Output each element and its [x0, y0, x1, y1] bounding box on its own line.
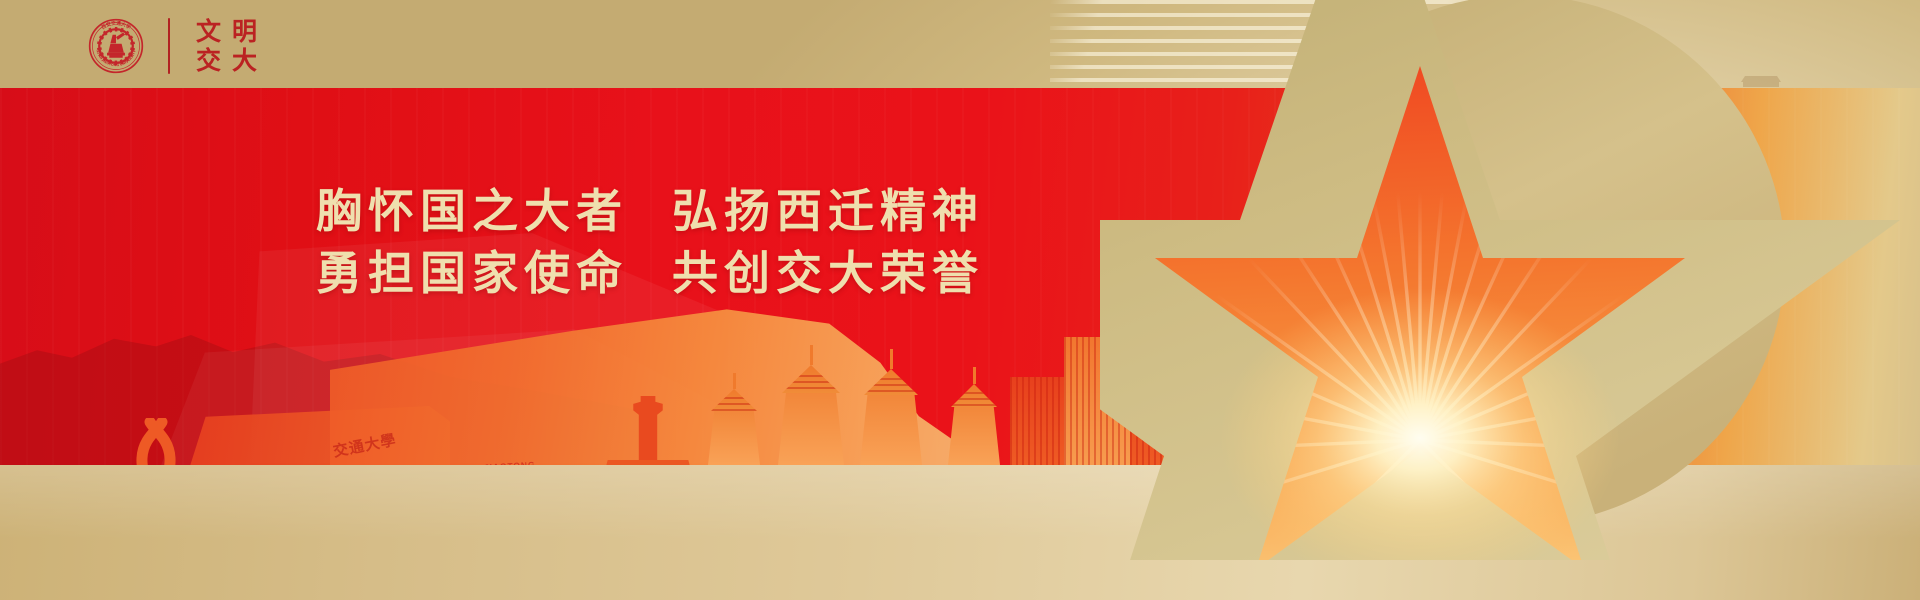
vertical-divider [168, 18, 170, 74]
brand-lockup: 西安交通大学 XI'AN JIAOTONG UNIVERSITY 文 明 交 大 [88, 18, 258, 74]
brand-title: 文 明 交 大 [196, 18, 258, 74]
building-bar [1010, 377, 1068, 465]
lamp-tower-2 [778, 345, 844, 465]
lamp-tower-1 [708, 373, 760, 465]
xjtu-seal-icon: 西安交通大学 XI'AN JIAOTONG UNIVERSITY [88, 18, 144, 74]
ribbon-sculpture-icon [110, 418, 205, 465]
brand-char-4: 大 [232, 47, 258, 74]
brand-char-2: 明 [232, 18, 258, 45]
lamp-tower-4 [948, 367, 1000, 465]
brand-char-1: 文 [196, 18, 222, 45]
brand-char-3: 交 [196, 47, 222, 74]
lamp-tower-3 [860, 349, 922, 465]
slogan-line-1: 胸怀国之大者 弘扬西迁精神 [0, 180, 1300, 242]
slogan-line-2: 勇担国家使命 共创交大荣誉 [0, 242, 1300, 304]
banner-root: 西安交大 [0, 0, 1920, 600]
slogan-block: 胸怀国之大者 弘扬西迁精神 勇担国家使命 共创交大荣誉 [0, 180, 1300, 304]
